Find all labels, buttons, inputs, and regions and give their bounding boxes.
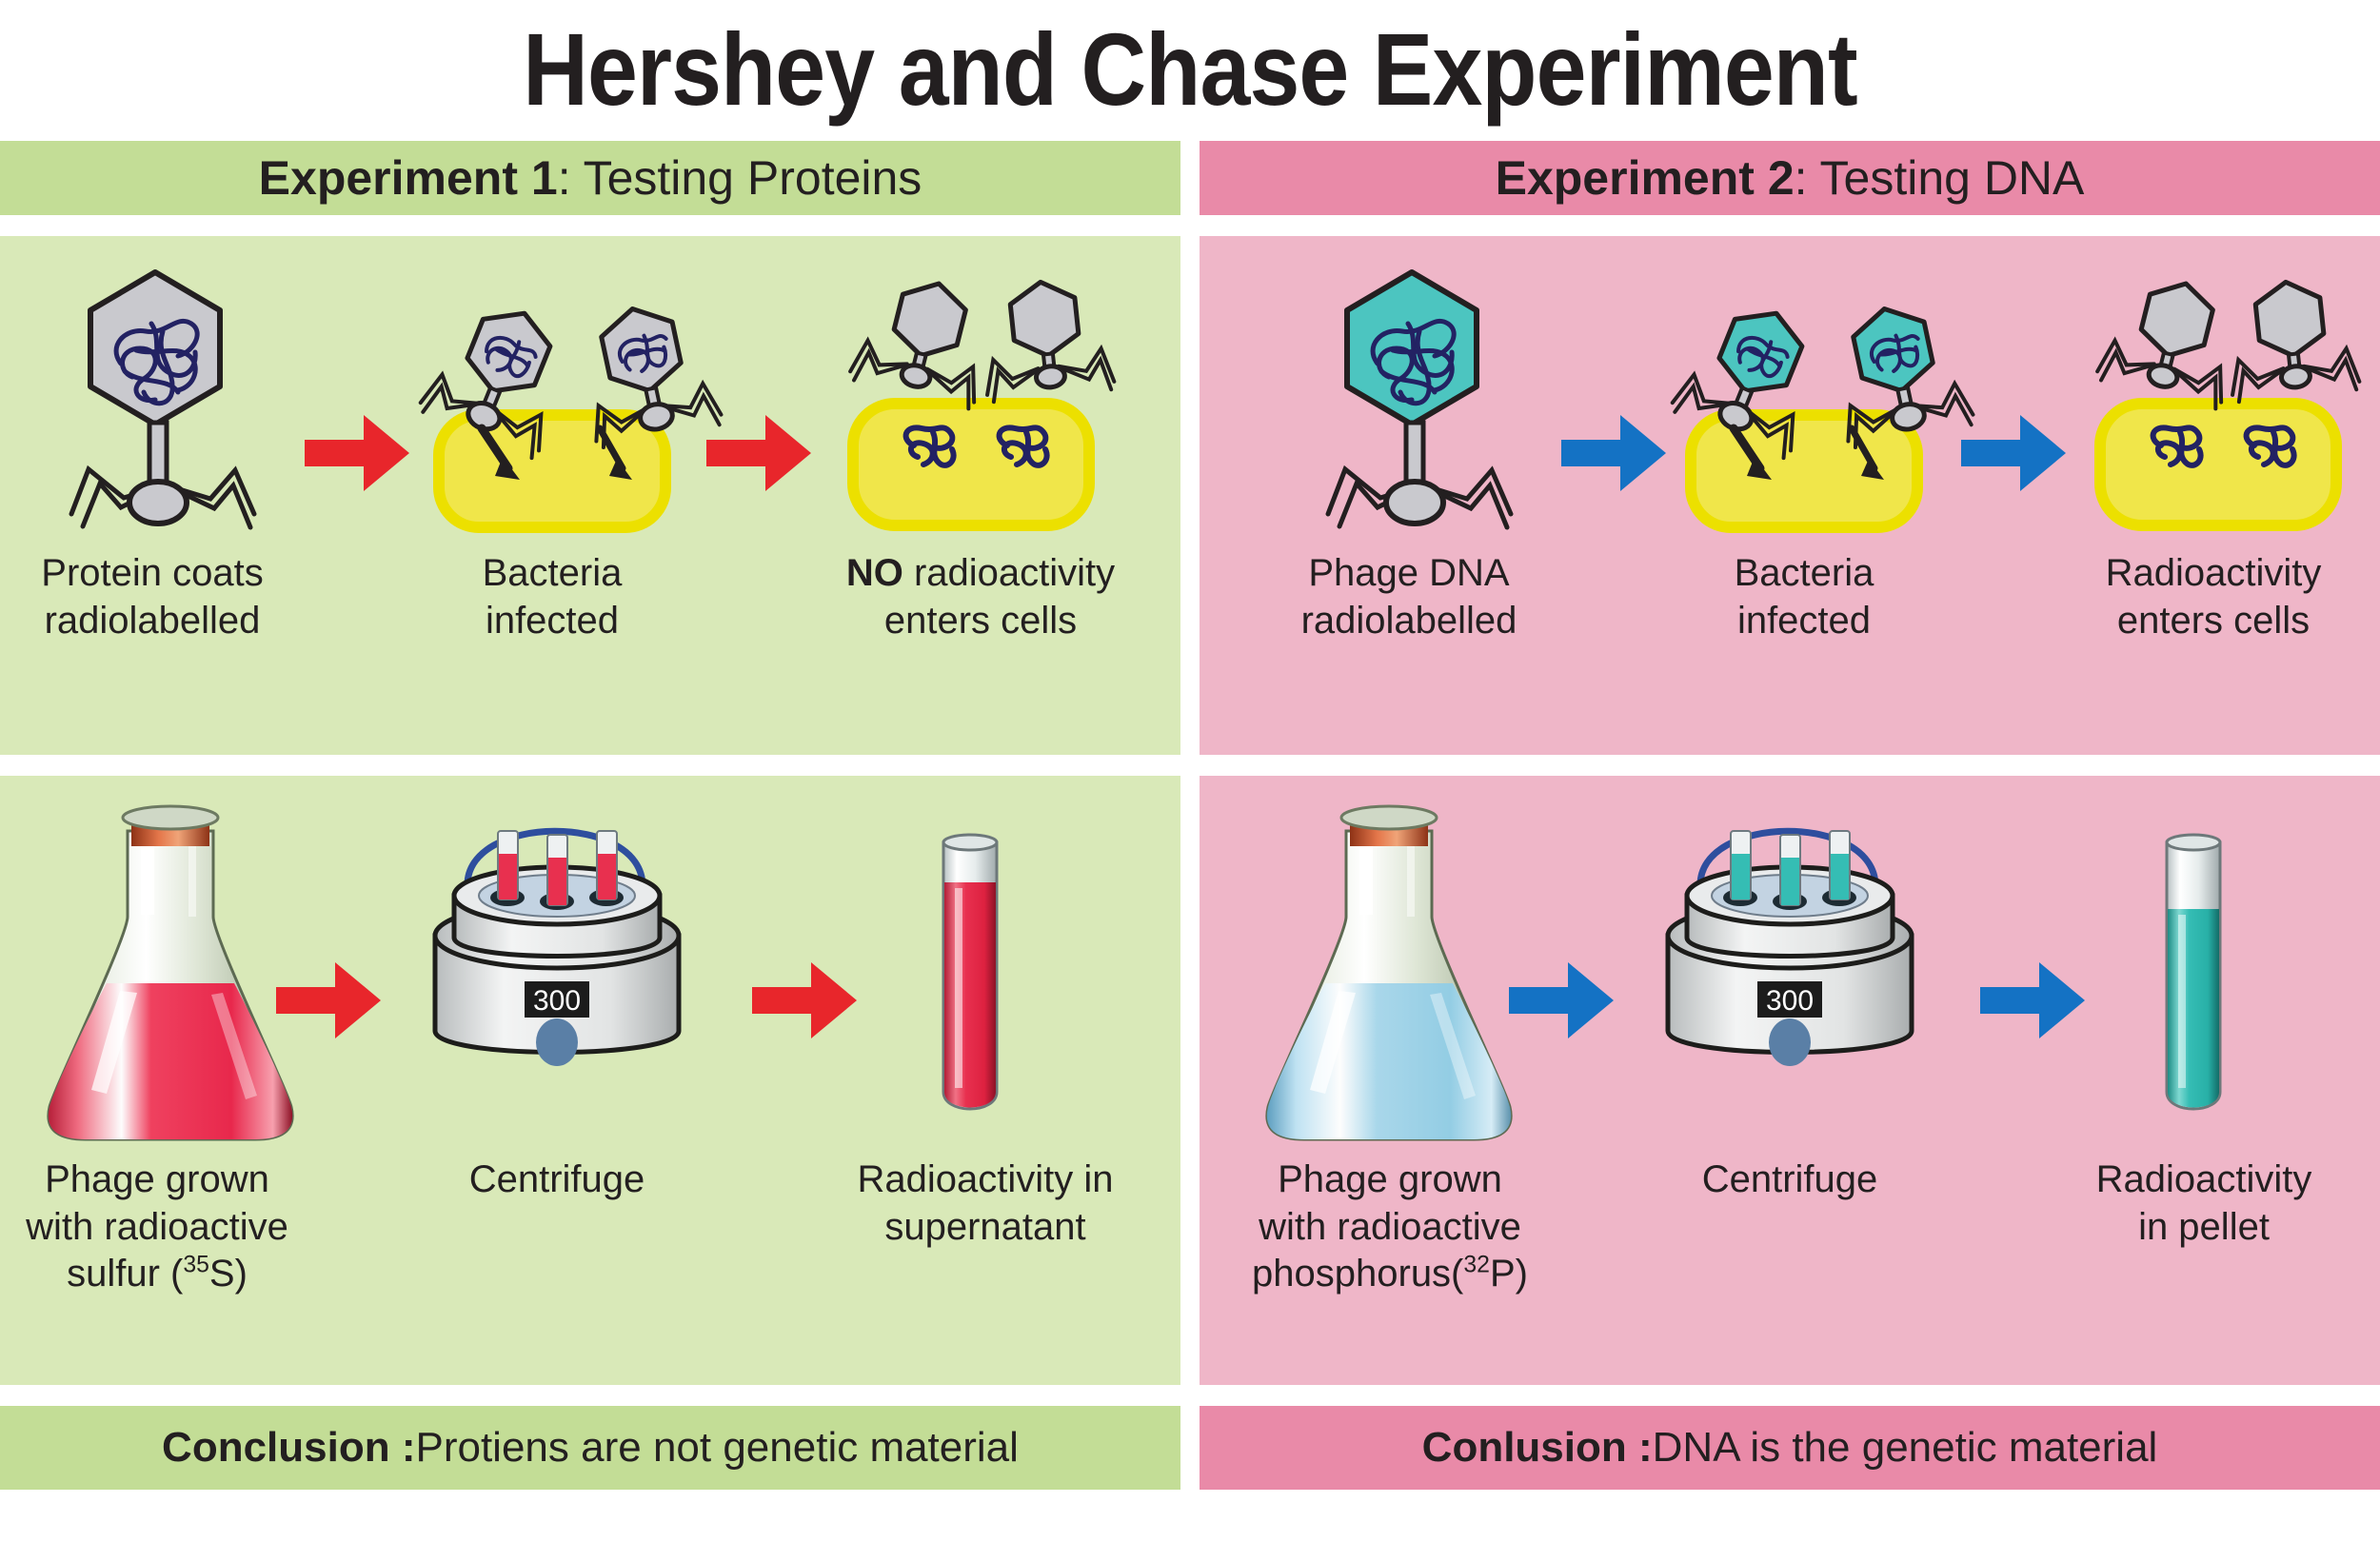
experiment-1-row2-label-0: Phage grown with radioactive sulfur (35S… — [0, 1156, 314, 1298]
experiment-1-row2-label-0-sup: 35 — [183, 1253, 209, 1278]
experiment-2-row2-label-0-sup: 32 — [1463, 1253, 1490, 1278]
experiment-1-conclusion-rest: Protiens are not genetic material — [415, 1424, 1018, 1472]
centrifuge-2: 300 — [1637, 795, 1942, 1109]
experiment-1-header: Experiment 1: Testing Proteins — [0, 141, 1180, 215]
experiment-1-row1-label-2-bold: NO — [846, 552, 903, 594]
centrifuge-2-display-text: 300 — [1766, 985, 1814, 1017]
injection-arrow-2b — [1842, 425, 1899, 491]
arrow-red-3 — [276, 957, 381, 1044]
tube-pellet — [2152, 833, 2247, 1128]
experiment-1-header-bold: Experiment 1 — [259, 150, 558, 206]
experiment-1-row1-panel: Protein coats radiolabelled — [0, 236, 1180, 755]
experiment-2-conclusion: Conlusion : DNA is the genetic material — [1200, 1406, 2380, 1490]
experiment-2-row1-panel: Phage DNA radiolabelled — [1200, 236, 2380, 755]
arrow-red-1 — [305, 409, 409, 497]
experiment-2-row1-label-0: Phage DNA radiolabelled — [1257, 550, 1561, 644]
experiment-1-row2-label-0-main: Phage grown with radioactive sulfur ( — [26, 1158, 288, 1295]
experiment-1-row1-label-1: Bacteria infected — [362, 550, 743, 644]
experiment-1-conclusion: Conclusion : Protiens are not genetic ma… — [0, 1406, 1180, 1490]
experiment-2-header-rest: : Testing DNA — [1795, 150, 2085, 206]
experiment-1-row2-label-1: Centrifuge — [400, 1156, 714, 1204]
flask-red — [29, 804, 314, 1147]
experiment-2-row1-label-2: Radioactivity enters cells — [2037, 550, 2380, 644]
experiment-1-row2-label-0-end: S) — [209, 1253, 248, 1295]
experiment-2-row2-label-0-end: P) — [1490, 1253, 1528, 1295]
arrow-blue-2 — [1961, 409, 2066, 497]
experiment-2-header-bold: Experiment 2 — [1496, 150, 1795, 206]
arrow-blue-1 — [1561, 409, 1666, 497]
experiment-1-row1-label-2-rest: radioactivity enters cells — [884, 552, 1115, 642]
tube-supernatant — [928, 833, 1023, 1128]
bacteria-cell-result-2 — [2094, 398, 2342, 531]
arrow-blue-3 — [1509, 957, 1614, 1044]
experiment-1-row1-label-0: Protein coats radiolabelled — [10, 550, 295, 644]
bacteria-cell-result-1 — [847, 398, 1095, 531]
experiment-2-row1-label-1: Bacteria infected — [1614, 550, 1994, 644]
centrifuge-1: 300 — [405, 795, 709, 1109]
experiment-1-column: Experiment 1: Testing Proteins — [0, 141, 1180, 1490]
injection-arrow-1a — [476, 425, 533, 491]
experiment-2-row2-panel: Phage grown with radioactive phosphorus(… — [1200, 776, 2380, 1385]
injection-arrow-1b — [590, 425, 647, 491]
phage-empty-2b — [2216, 274, 2369, 417]
experiment-2-row2-label-1: Centrifuge — [1633, 1156, 1947, 1204]
centrifuge-1-display-text: 300 — [533, 985, 581, 1017]
phage-protein-labelled — [33, 265, 281, 541]
flask-blue — [1247, 804, 1533, 1147]
arrow-blue-4 — [1980, 957, 2085, 1044]
experiment-1-header-rest: : Testing Proteins — [558, 150, 922, 206]
page-title: Hershey and Chase Experiment — [143, 0, 2237, 138]
experiment-1-conclusion-bold: Conclusion : — [162, 1424, 415, 1472]
experiment-2-column: Experiment 2 : Testing DNA — [1200, 141, 2380, 1490]
arrow-red-4 — [752, 957, 857, 1044]
experiment-2-header: Experiment 2 : Testing DNA — [1200, 141, 2380, 215]
arrow-red-2 — [706, 409, 811, 497]
experiment-1-row2-panel: Phage grown with radioactive sulfur (35S… — [0, 776, 1180, 1385]
experiment-2-row2-label-2: Radioactivity in pellet — [2028, 1156, 2380, 1251]
experiment-2-conclusion-bold: Conlusion : — [1422, 1424, 1653, 1472]
phage-empty-1b — [971, 274, 1123, 417]
phage-dna-labelled — [1290, 265, 1537, 541]
experiment-1-row1-label-2: NO radioactivity enters cells — [790, 550, 1171, 644]
experiment-2-row2-label-0: Phage grown with radioactive phosphorus(… — [1219, 1156, 1561, 1298]
experiment-2-conclusion-rest: DNA is the genetic material — [1653, 1424, 2158, 1472]
injection-arrow-2a — [1728, 425, 1785, 491]
experiment-1-row2-label-2: Radioactivity in supernatant — [800, 1156, 1171, 1251]
